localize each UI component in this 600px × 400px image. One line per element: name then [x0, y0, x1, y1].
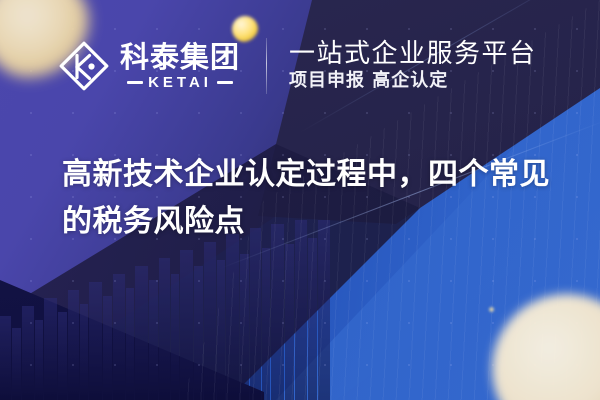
- header-divider: [266, 38, 267, 94]
- banner-headline: 高新技术企业认定过程中，四个常见的税务风险点: [62, 152, 562, 245]
- ketai-diamond-k-logo-icon: [58, 40, 110, 92]
- banner-header: 科泰集团 KETAI 一站式企业服务平台 项目申报 高企认定: [58, 38, 537, 94]
- tagline-primary: 一站式企业服务平台: [289, 40, 537, 69]
- dash-right-icon: [217, 81, 233, 84]
- promo-banner: 科泰集团 KETAI 一站式企业服务平台 项目申报 高企认定 高新技术企业认定过…: [0, 0, 600, 400]
- dash-left-icon: [127, 81, 143, 84]
- small-gold-speck-icon: [488, 306, 495, 313]
- brand-logo[interactable]: 科泰集团 KETAI: [58, 40, 240, 92]
- tagline-block: 一站式企业服务平台 项目申报 高企认定: [289, 40, 537, 92]
- brand-name-en: KETAI: [148, 75, 212, 90]
- brand-name-en-row: KETAI: [120, 75, 240, 90]
- tagline-secondary: 项目申报 高企认定: [289, 71, 537, 92]
- brand-wordmark: 科泰集团 KETAI: [120, 42, 240, 89]
- brand-name-cn: 科泰集团: [120, 42, 240, 72]
